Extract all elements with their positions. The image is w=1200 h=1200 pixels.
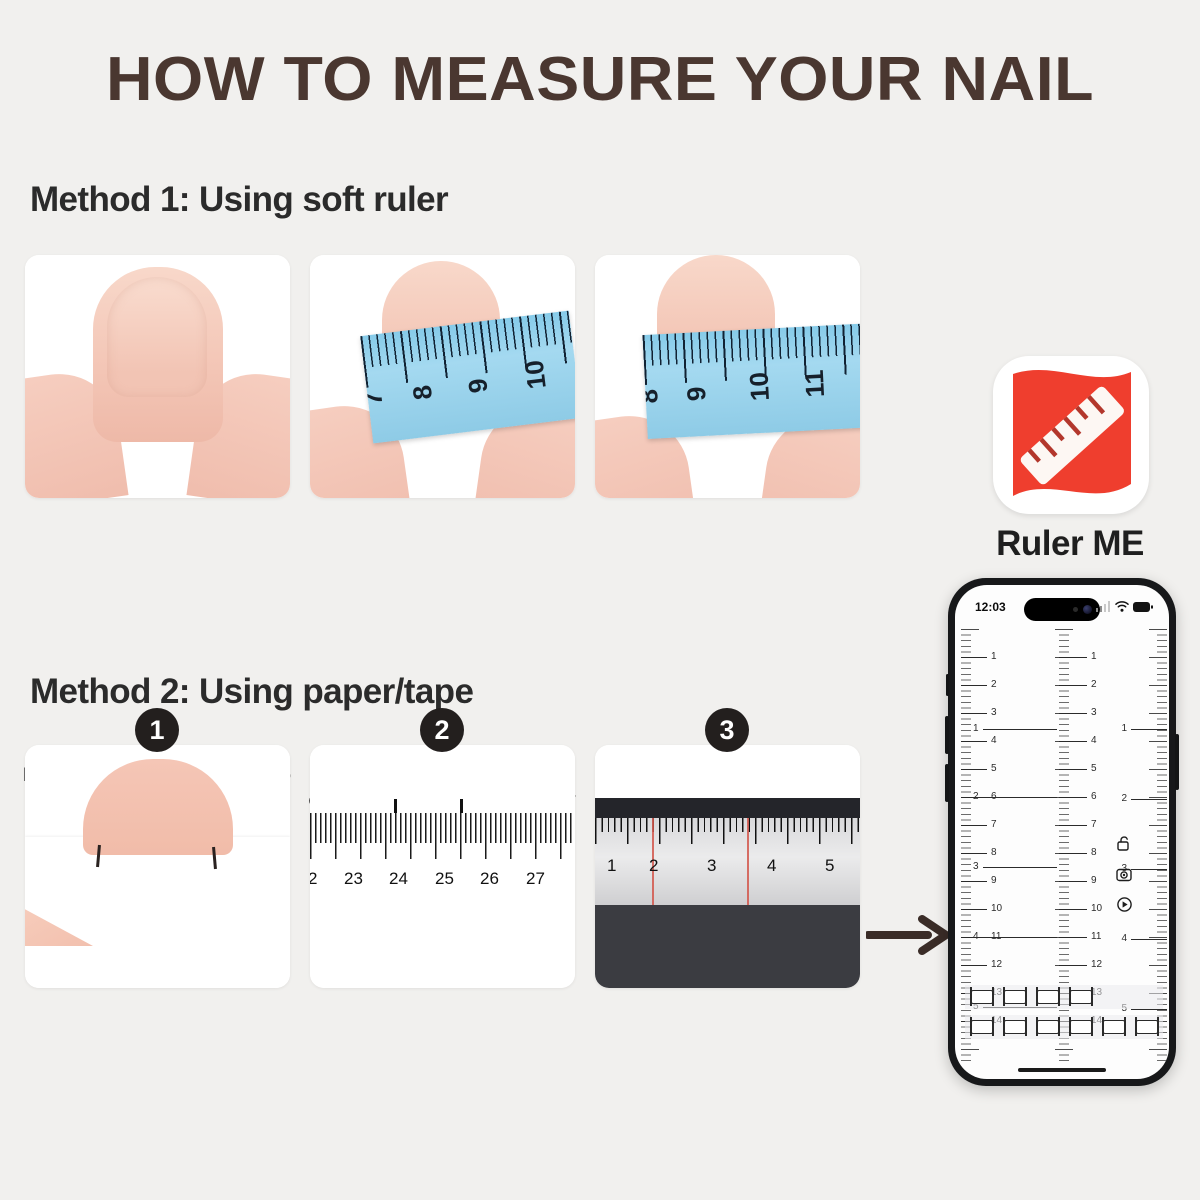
- ruler-number: 27: [526, 869, 545, 889]
- ruler-number: 23: [344, 869, 363, 889]
- unlock-icon[interactable]: [1116, 835, 1133, 852]
- inch-number: 1: [1121, 723, 1127, 734]
- ruler-number: 2: [310, 869, 317, 889]
- poster-root: HOW TO MEASURE YOUR NAIL Method 1: Using…: [0, 0, 1200, 1200]
- phone-mute-switch[interactable]: [946, 674, 949, 696]
- ruler-number: 4: [1091, 735, 1097, 746]
- ruler-number: 2: [649, 856, 658, 876]
- tape-number: 7: [360, 390, 389, 408]
- front-camera-icon: [1083, 605, 1092, 614]
- proximity-sensor-icon: [1073, 607, 1078, 612]
- white-paper-sheet: [25, 837, 290, 988]
- ruler-number: 4: [767, 856, 776, 876]
- ruler-number: 3: [991, 707, 997, 718]
- nail-impression: [83, 759, 233, 855]
- ruler-scale: 2 23 24 25 26 27: [310, 813, 575, 896]
- method-2-heading: Method 2: Using paper/tape: [30, 672, 473, 712]
- ruler-tool-buttons[interactable]: [1115, 835, 1133, 913]
- ruler-major-ticks: [310, 813, 575, 859]
- pencil-mark-right: [460, 799, 463, 813]
- measurement-chip[interactable]: [1103, 1020, 1125, 1034]
- measurement-chip[interactable]: [1070, 1020, 1092, 1034]
- ruler-number: 11: [1091, 931, 1101, 942]
- alignment-line-right: [747, 818, 749, 905]
- ruler-number: 1: [991, 651, 997, 662]
- ruler-major-ticks: [595, 818, 860, 844]
- ruler-number: 2: [1091, 679, 1097, 690]
- ruler-number: 12: [991, 959, 1002, 970]
- method-2-step-2-image: 2 23 24 25 26 27: [310, 745, 575, 988]
- inch-number: 1: [973, 723, 979, 734]
- inch-number: 3: [973, 861, 979, 872]
- measurement-chip[interactable]: [1136, 1020, 1158, 1034]
- method-1-step-2-image: 7 8 9 10: [310, 255, 575, 498]
- ruler-number: 7: [1091, 819, 1097, 830]
- inch-number: 4: [1121, 933, 1127, 944]
- ruler-number: 4: [991, 735, 997, 746]
- phone-volume-down-button[interactable]: [945, 764, 949, 802]
- ruler-on-paper-photo: 2 23 24 25 26 27: [310, 745, 575, 988]
- home-indicator[interactable]: [1018, 1068, 1106, 1072]
- tape-on-thumb-photo: 7 8 9 10: [310, 255, 575, 498]
- ruler-number: 1: [607, 856, 616, 876]
- phone-screen[interactable]: 12:03: [955, 585, 1169, 1079]
- ruler-number: 5: [825, 856, 834, 876]
- desk-surface-dark: [595, 905, 860, 988]
- ruler-number: 3: [707, 856, 716, 876]
- paper-on-nail-photo: [25, 745, 290, 988]
- measurement-chip-row-bottom[interactable]: [965, 1015, 1163, 1039]
- method-2-step-3-image: 1 2 3 4 5: [595, 745, 860, 988]
- measurement-chip[interactable]: [1037, 990, 1059, 1004]
- step-number-badge: 2: [420, 708, 464, 752]
- ruler-number: 1: [1091, 651, 1097, 662]
- tape-number: 9: [462, 377, 495, 395]
- blue-tape-measure: 8 9 10 11: [642, 323, 860, 439]
- ruler-number: 26: [480, 869, 499, 889]
- method-2-step-1-image: [25, 745, 290, 988]
- tape-number: 9: [681, 386, 713, 402]
- measurement-chip[interactable]: [1004, 1020, 1026, 1034]
- dynamic-island: [1024, 598, 1100, 621]
- thumb-nail-plate: [107, 277, 207, 397]
- ruler-number: 5: [991, 763, 997, 774]
- bare-thumb-photo: [25, 255, 290, 498]
- tape-number: 11: [799, 369, 831, 398]
- measurement-chip-row-top[interactable]: [965, 985, 1163, 1009]
- method-1-heading: Method 1: Using soft ruler: [30, 180, 448, 220]
- tape-number: 10: [519, 358, 553, 390]
- ruler-body: 1 2 3 4 5: [595, 818, 860, 905]
- method-1-step-3-image: 8 9 10 11: [595, 255, 860, 498]
- phone-volume-up-button[interactable]: [945, 716, 949, 754]
- phone-power-button[interactable]: [1175, 734, 1179, 790]
- method-1-step-1-image: [25, 255, 290, 498]
- ruler-number: 2: [991, 679, 997, 690]
- cellular-signal-icon: [1096, 601, 1111, 612]
- tape-number: 8: [406, 383, 439, 401]
- step-number-badge: 1: [135, 708, 179, 752]
- plastic-ruler-photo: 1 2 3 4 5: [595, 745, 860, 988]
- tape-wrapped-photo: 8 9 10 11: [595, 255, 860, 498]
- phone-mockup: 12:03: [948, 578, 1176, 1086]
- ruler-number: 25: [435, 869, 454, 889]
- ruler-number: 9: [991, 875, 997, 886]
- status-bar-time: 12:03: [975, 600, 1006, 614]
- camera-icon[interactable]: [1115, 865, 1133, 883]
- app-name-label: Ruler ME: [950, 524, 1190, 564]
- ruler-number: 8: [991, 847, 997, 858]
- ruler-me-app-icon[interactable]: [993, 356, 1149, 514]
- measurement-chip[interactable]: [971, 1020, 993, 1034]
- ruler-number: 8: [1091, 847, 1097, 858]
- inch-number: 4: [973, 931, 979, 942]
- ruler-number: 3: [1091, 707, 1097, 718]
- status-bar-indicators: [1096, 601, 1153, 612]
- tape-number: 10: [744, 371, 776, 402]
- ruler-number: 10: [991, 903, 1002, 914]
- inch-number: 2: [1121, 793, 1127, 804]
- measurement-chip[interactable]: [1037, 1020, 1059, 1034]
- ruler-number: 5: [1091, 763, 1097, 774]
- ruler-number: 12: [1091, 959, 1102, 970]
- battery-icon: [1133, 602, 1153, 612]
- ruler-number: 7: [991, 819, 997, 830]
- ruler-number: 24: [389, 869, 408, 889]
- page-title: HOW TO MEASURE YOUR NAIL: [0, 44, 1200, 115]
- step-number-badge: 3: [705, 708, 749, 752]
- measurement-chip[interactable]: [971, 990, 993, 1004]
- pencil-mark-left: [394, 799, 397, 813]
- ruler-number: 10: [1091, 903, 1102, 914]
- ruler-number: 9: [1091, 875, 1097, 886]
- measurement-chip[interactable]: [1004, 990, 1026, 1004]
- ruler-number: 6: [1091, 791, 1097, 802]
- measurement-chip[interactable]: [1070, 990, 1092, 1004]
- play-icon[interactable]: [1116, 896, 1133, 913]
- tape-number: 8: [642, 388, 664, 404]
- wifi-icon: [1115, 601, 1129, 612]
- inch-number: 2: [973, 791, 979, 802]
